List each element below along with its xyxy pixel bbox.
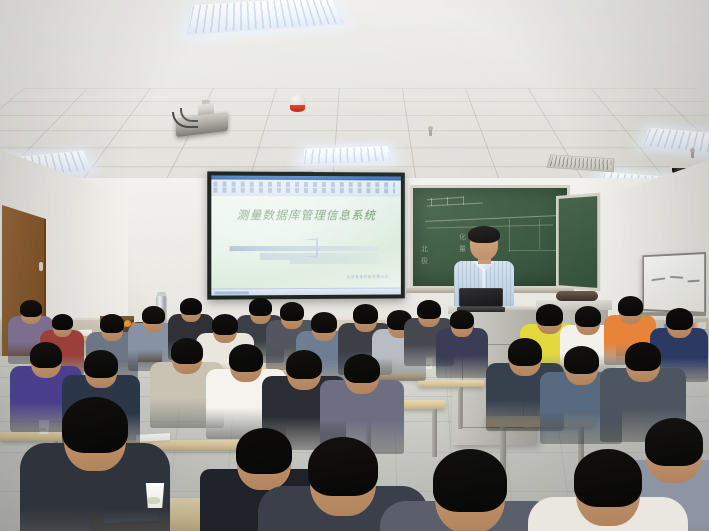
audience-member-hair: [142, 306, 165, 324]
green-chalkboard-right-panel: [556, 193, 600, 292]
whiteboard-mark: [670, 276, 683, 278]
audience-member-hair: [536, 304, 563, 326]
chalk-text: 北: [421, 244, 428, 254]
classroom-photo: 测量数据库管理信息系统 北京某某科技有限公司 北 极 化 量: [0, 0, 709, 531]
audience-member-hair: [344, 354, 380, 383]
audience-member-hair: [618, 296, 643, 316]
audience-member-hair: [508, 338, 542, 366]
powerpoint-toolbar: [211, 175, 401, 196]
chalk-mark: [425, 215, 557, 222]
audience-member: [436, 312, 488, 384]
slide-subtitle: 北京某某科技有限公司: [347, 274, 389, 279]
presenter-hair: [468, 226, 500, 243]
audience-member-hair: [575, 306, 601, 327]
desk-leg: [458, 387, 462, 429]
fire-sprinkler-icon: [428, 126, 433, 131]
slide-graphic-bar: [290, 260, 384, 264]
paper-cup: [145, 483, 165, 508]
audience-member-hair: [100, 314, 124, 333]
audience-member-hair: [311, 312, 337, 333]
audience-member-hair: [52, 314, 73, 330]
ceiling-projector: [172, 104, 232, 134]
chalk-mark: [539, 219, 540, 249]
chalk-mark: [447, 197, 448, 205]
presenter-laptop[interactable]: [457, 288, 505, 312]
chalk-mark: [427, 197, 463, 201]
fluorescent-light-panel: [302, 146, 393, 166]
audience-member-hair: [30, 342, 62, 368]
desk-leg: [432, 409, 437, 457]
projected-slide: 测量数据库管理信息系统 北京某某科技有限公司: [211, 175, 401, 295]
bag-on-table: [556, 291, 598, 301]
audience-member-hair: [564, 346, 599, 374]
slide-graphic: [230, 236, 390, 270]
chalk-mark: [427, 203, 483, 207]
audience-member-hair: [171, 338, 203, 364]
audience-member-foreground: [528, 452, 688, 531]
chalk-text: 极: [421, 256, 428, 266]
audience-member-hair: [308, 437, 378, 496]
laptop-screen: [459, 288, 503, 307]
audience-member-hair: [450, 310, 474, 329]
audience-member-hair: [286, 350, 322, 379]
audience-member-hair: [180, 298, 202, 315]
audience-member-hair: [229, 344, 263, 372]
whiteboard-mark: [651, 277, 665, 280]
smoke-alarm-icon: [289, 95, 306, 108]
audience-member-hair: [433, 449, 507, 512]
powerpoint-menu-row: [213, 181, 395, 187]
chalk-mark: [509, 250, 557, 251]
audience-member-hair: [84, 350, 118, 378]
audience-member-hair: [574, 449, 642, 507]
whiteboard-mark: [687, 280, 699, 282]
slide-title: 测量数据库管理信息系统: [211, 207, 401, 223]
fire-sprinkler-icon: [690, 148, 695, 153]
audience-member-hair: [62, 397, 128, 453]
audience-member-foreground: [20, 400, 170, 531]
chalk-mark: [463, 196, 464, 205]
windows-taskbar: [211, 288, 401, 296]
powerpoint-toolbar-row: [213, 188, 395, 194]
projection-screen: 测量数据库管理信息系统 北京某某科技有限公司: [207, 171, 405, 299]
audience-member-hair: [625, 342, 661, 371]
audience-member-hair: [20, 300, 42, 317]
audience-member-hair: [212, 314, 238, 335]
door-handle-icon[interactable]: [39, 262, 43, 271]
powerpoint-title-bar: [211, 175, 401, 180]
audience-member-hair: [666, 308, 693, 330]
chalk-mark: [431, 198, 432, 206]
